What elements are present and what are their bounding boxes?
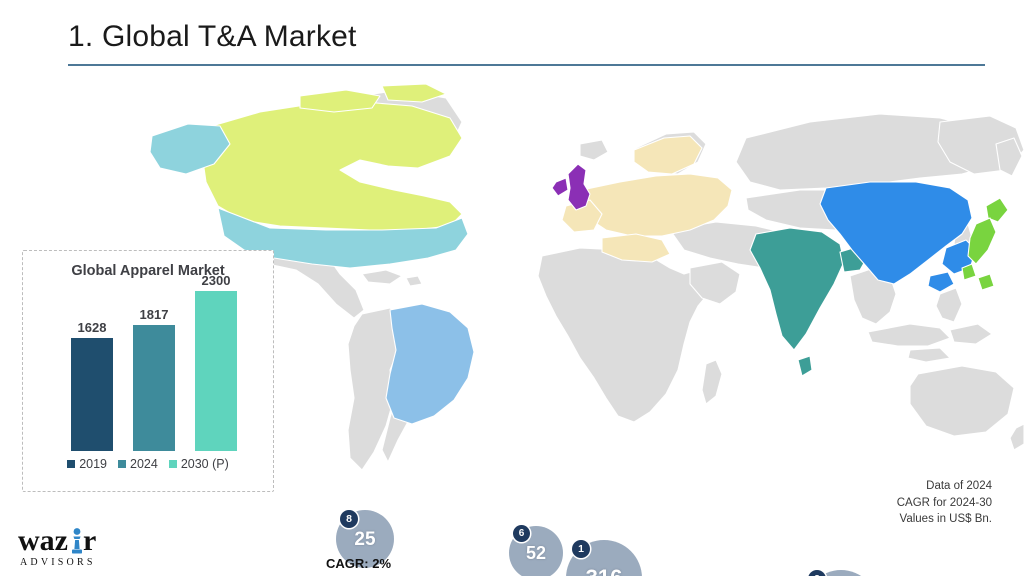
bubble-value-europe: 316 <box>586 567 623 576</box>
title-underline <box>68 64 985 66</box>
page-title: 1. Global T&A Market <box>68 20 357 54</box>
legend-swatch-icon-2030 <box>169 460 177 468</box>
logo-wordmark: wazr <box>18 526 128 556</box>
map-region-china <box>820 182 976 292</box>
logo-text-pre: waz <box>18 524 68 557</box>
bar-column-2030[interactable]: 2300 <box>195 291 237 451</box>
legend-label-2019: 2019 <box>79 457 107 471</box>
bar-column-2019[interactable]: 1628 <box>71 338 113 451</box>
bar-rect-2030 <box>195 291 237 451</box>
legend-item-2030[interactable]: 2030 (P) <box>169 457 229 471</box>
world-map-svg <box>150 78 1024 478</box>
legend-label-2030: 2030 (P) <box>181 457 229 471</box>
logo-tagline: ADVISORS <box>20 557 128 568</box>
cagr-label-canada: CAGR: 2% <box>326 556 391 571</box>
bar-rect-2024 <box>133 325 175 451</box>
slide-root: 1. Global T&A Market <box>0 0 1024 576</box>
legend-item-2024[interactable]: 2024 <box>118 457 158 471</box>
bar-rect-2019 <box>71 338 113 451</box>
legend-swatch-icon-2024 <box>118 460 126 468</box>
apparel-market-chart: Global Apparel Market 1628 1817 2300 201… <box>22 250 274 492</box>
bubble-value-canada: 25 <box>354 530 375 549</box>
wazir-advisors-logo: wazr ADVISORS <box>18 526 128 568</box>
chess-pawn-icon <box>70 527 84 557</box>
bar-value-2030: 2300 <box>202 273 231 288</box>
footnote-line-3: Values in US$ Bn. <box>897 511 992 528</box>
rank-badge-china: 3 <box>808 570 826 576</box>
bubble-value-uk: 52 <box>526 544 546 562</box>
rank-badge-canada: 8 <box>340 510 358 528</box>
rank-badge-europe: 1 <box>572 540 590 558</box>
world-map: 25 8 CAGR: 2% 288 2 CAGR: 3% 51 7 CAGR: … <box>150 78 1024 478</box>
map-region-brazil <box>386 304 474 424</box>
legend-label-2024: 2024 <box>130 457 158 471</box>
footnote-line-2: CAGR for 2024-30 <box>897 495 992 512</box>
bar-value-2019: 1628 <box>78 320 107 335</box>
footnote: Data of 2024 CAGR for 2024-30 Values in … <box>897 478 992 528</box>
legend-item-2019[interactable]: 2019 <box>67 457 107 471</box>
bar-column-2024[interactable]: 1817 <box>133 325 175 451</box>
map-region-india <box>750 228 868 376</box>
chart-legend: 2019 2024 2030 (P) <box>23 457 273 471</box>
rank-badge-uk: 6 <box>513 525 530 542</box>
legend-swatch-icon-2019 <box>67 460 75 468</box>
footnote-line-1: Data of 2024 <box>897 478 992 495</box>
map-region-uk <box>552 164 590 210</box>
chart-title: Global Apparel Market <box>23 263 273 279</box>
logo-text-post: r <box>83 524 96 557</box>
chart-plot-area: 1628 1817 2300 <box>69 291 239 451</box>
bar-value-2024: 1817 <box>140 307 169 322</box>
